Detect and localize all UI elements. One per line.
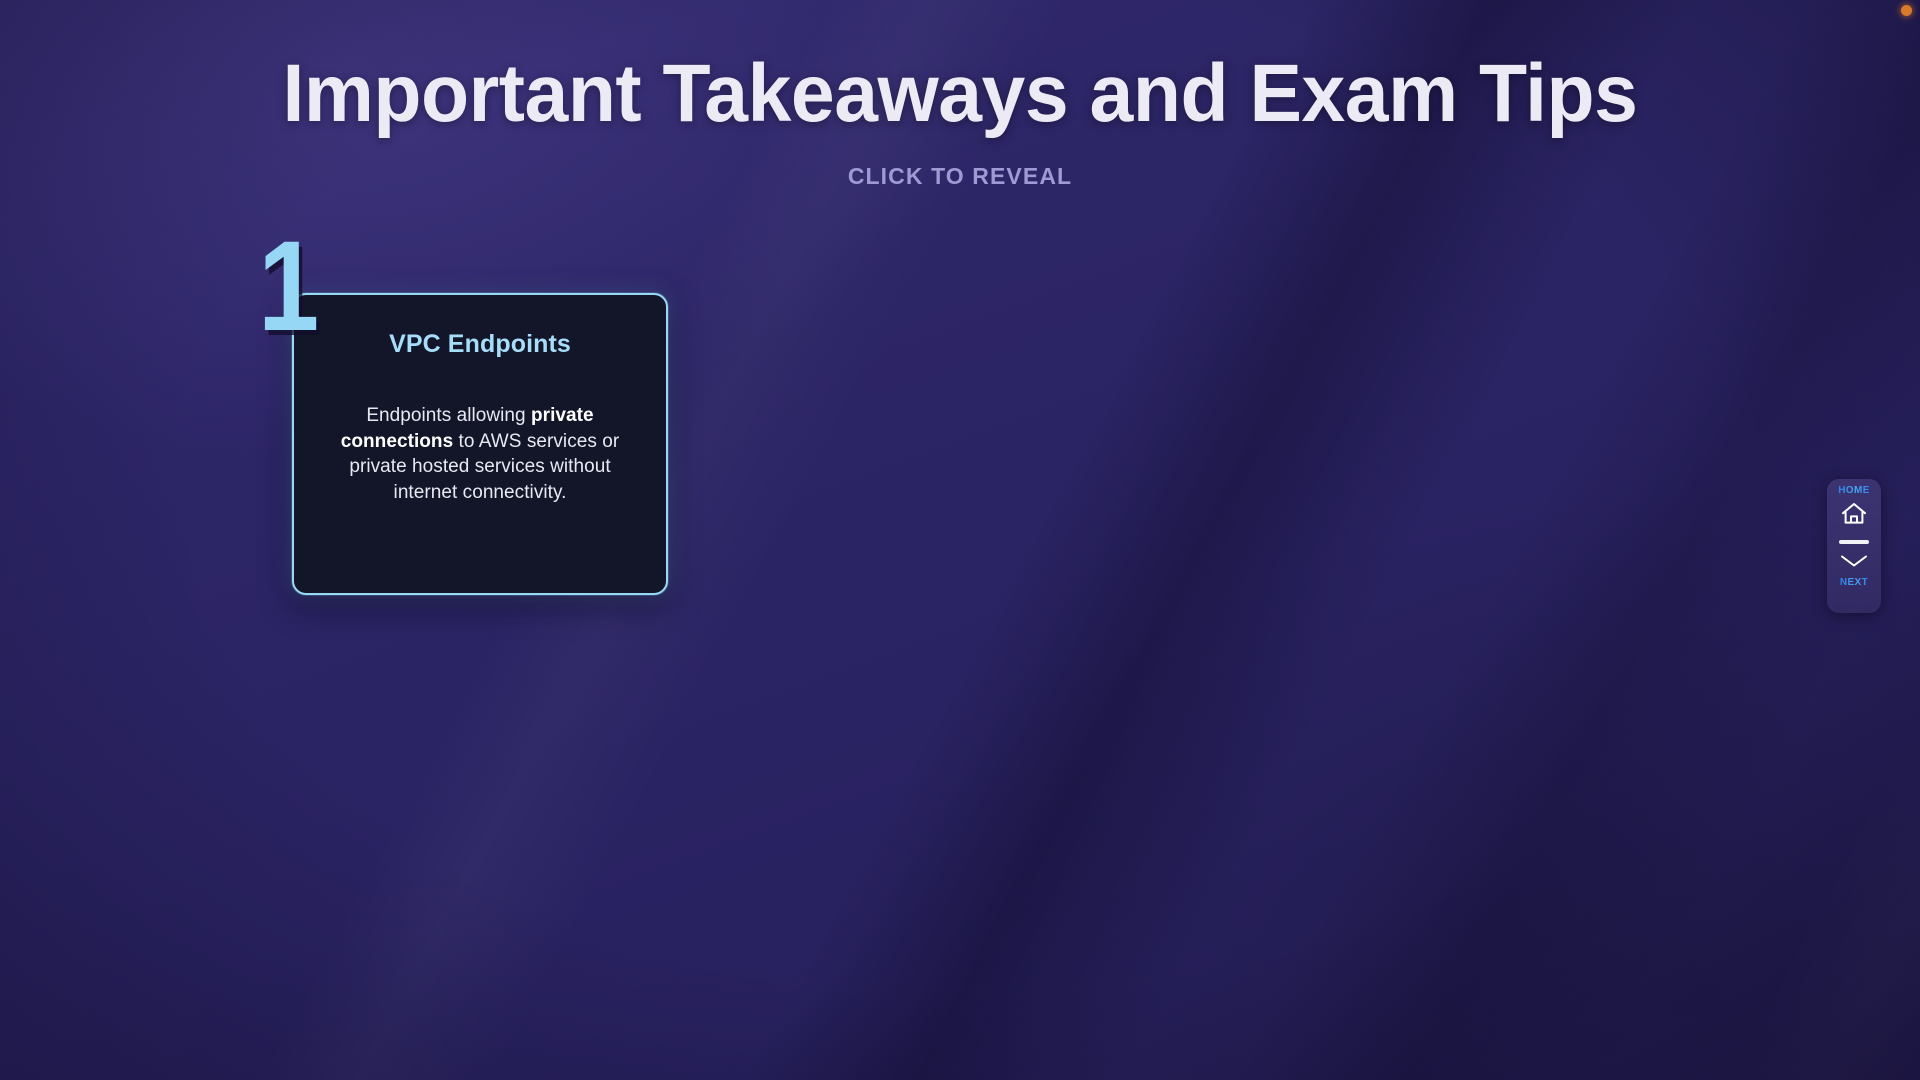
home-label: HOME	[1838, 485, 1870, 497]
chevron-down-icon[interactable]	[1839, 553, 1869, 574]
page-subtitle: CLICK TO REVEAL	[0, 162, 1920, 190]
navigation-widget[interactable]: HOME NEXT	[1827, 479, 1881, 613]
card-body-prefix: Endpoints allowing	[366, 405, 531, 426]
slide-root: Important Takeaways and Exam Tips CLICK …	[0, 0, 1920, 1080]
card-number-badge: 1	[258, 228, 319, 346]
slide-header: Important Takeaways and Exam Tips CLICK …	[0, 0, 1920, 190]
house-icon[interactable]	[1840, 501, 1868, 531]
card-body: Endpoints allowing private connections t…	[324, 403, 636, 505]
next-label: NEXT	[1840, 577, 1868, 589]
page-title: Important Takeaways and Exam Tips	[38, 48, 1881, 140]
next-button[interactable]: NEXT	[1839, 551, 1869, 589]
home-button[interactable]: HOME	[1838, 485, 1870, 531]
reveal-card[interactable]: VPC Endpoints Endpoints allowing private…	[292, 293, 668, 595]
card-title: VPC Endpoints	[389, 329, 571, 359]
takeaway-card-1[interactable]: 1 VPC Endpoints Endpoints allowing priva…	[258, 228, 678, 608]
divider-line-icon	[1839, 540, 1869, 544]
